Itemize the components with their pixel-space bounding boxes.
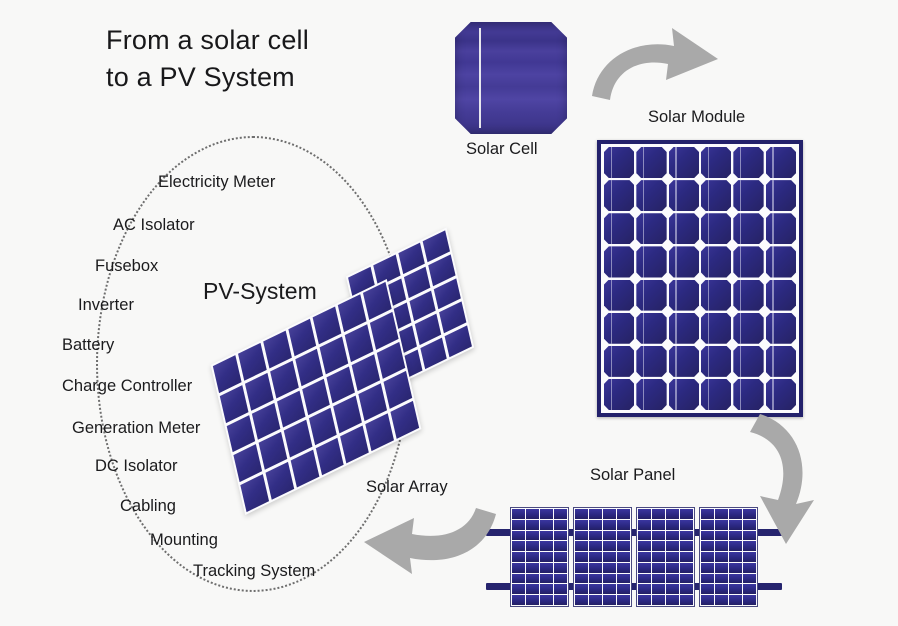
solar-panel-cell bbox=[603, 595, 616, 605]
solar-panel-cell bbox=[512, 584, 525, 594]
solar-panel-cell-grid bbox=[512, 509, 567, 605]
solar-module-cell bbox=[636, 280, 666, 311]
solar-panel-cell bbox=[638, 520, 651, 530]
solar-panel-cell bbox=[526, 541, 539, 551]
solar-array-cell bbox=[290, 450, 319, 488]
solar-panel-cell bbox=[701, 541, 714, 551]
solar-panel-module bbox=[636, 507, 695, 607]
solar-panel-cell bbox=[575, 520, 588, 530]
solar-module-cell bbox=[636, 346, 666, 377]
solar-panel-cell bbox=[575, 595, 588, 605]
solar-panel-cell bbox=[617, 541, 630, 551]
diagram-canvas: From a solar cell to a PV System PV-Syst… bbox=[0, 0, 898, 626]
solar-module-cell bbox=[766, 246, 796, 277]
solar-panel-cell bbox=[575, 584, 588, 594]
solar-panel-cell bbox=[743, 574, 756, 584]
solar-panel-cell bbox=[638, 531, 651, 541]
solar-panel-cell bbox=[652, 541, 665, 551]
solar-panel-cell-grid bbox=[638, 509, 693, 605]
solar-panel-cell bbox=[652, 595, 665, 605]
solar-module-cell bbox=[733, 213, 763, 244]
solar-panel-cell bbox=[617, 563, 630, 573]
solar-panel-cell bbox=[617, 552, 630, 562]
solar-module-cell bbox=[701, 213, 731, 244]
solar-panel-cell bbox=[603, 531, 616, 541]
solar-panel-cell bbox=[701, 509, 714, 519]
solar-panel-cell bbox=[666, 574, 679, 584]
solar-module-cell bbox=[669, 147, 699, 178]
component-label-fusebox: Fusebox bbox=[95, 257, 158, 276]
solar-module-cell bbox=[669, 379, 699, 410]
stage-label-solar-cell: Solar Cell bbox=[466, 140, 538, 159]
solar-panel-cell bbox=[526, 595, 539, 605]
component-label-tracking-system: Tracking System bbox=[193, 562, 315, 581]
solar-module-cell bbox=[636, 180, 666, 211]
page-title: From a solar cell to a PV System bbox=[106, 22, 309, 96]
solar-panel-cell bbox=[526, 563, 539, 573]
solar-panel-cell bbox=[638, 552, 651, 562]
solar-panel-cell bbox=[715, 509, 728, 519]
solar-panel-cell bbox=[540, 552, 553, 562]
solar-module-cell bbox=[733, 379, 763, 410]
solar-cell-graphic bbox=[455, 22, 567, 134]
solar-panel-cell bbox=[743, 595, 756, 605]
solar-panel-cell bbox=[554, 509, 567, 519]
solar-panel-cell bbox=[729, 574, 742, 584]
solar-module-cell bbox=[733, 346, 763, 377]
solar-panel-cell bbox=[680, 574, 693, 584]
solar-panel-cell bbox=[652, 563, 665, 573]
solar-module-cell bbox=[669, 346, 699, 377]
solar-module-cell bbox=[604, 280, 634, 311]
solar-panel-cell bbox=[680, 531, 693, 541]
solar-panel-cell bbox=[575, 541, 588, 551]
solar-panel-cell bbox=[575, 509, 588, 519]
solar-panel-cell bbox=[715, 584, 728, 594]
solar-panel-cell bbox=[589, 574, 602, 584]
solar-panel-cell bbox=[617, 584, 630, 594]
solar-panel-cell bbox=[666, 584, 679, 594]
solar-panel-cell bbox=[680, 584, 693, 594]
solar-panel-cell bbox=[554, 563, 567, 573]
solar-array-cell bbox=[366, 413, 395, 451]
solar-panel-cell bbox=[603, 520, 616, 530]
solar-panel-cell bbox=[554, 541, 567, 551]
solar-panel-module bbox=[510, 507, 569, 607]
solar-panel-cell bbox=[652, 520, 665, 530]
solar-module-cell bbox=[766, 147, 796, 178]
solar-panel-cell bbox=[652, 584, 665, 594]
solar-panel-cell bbox=[512, 574, 525, 584]
solar-panel-cell bbox=[589, 563, 602, 573]
solar-panel-cell bbox=[701, 584, 714, 594]
solar-panel-cell bbox=[589, 595, 602, 605]
solar-module-cell bbox=[701, 147, 731, 178]
solar-module-cell bbox=[669, 280, 699, 311]
solar-module-cell bbox=[701, 246, 731, 277]
solar-module-cell bbox=[733, 280, 763, 311]
stage-label-solar-array: Solar Array bbox=[366, 478, 448, 497]
solar-panel-cell bbox=[666, 552, 679, 562]
solar-panel-cell bbox=[680, 509, 693, 519]
solar-panel-cell bbox=[638, 595, 651, 605]
solar-panel-cell bbox=[680, 541, 693, 551]
solar-panel-cell bbox=[554, 574, 567, 584]
solar-panel-cell bbox=[652, 531, 665, 541]
solar-module-cell bbox=[604, 147, 634, 178]
solar-panel-cell bbox=[575, 563, 588, 573]
solar-panel-cell bbox=[680, 520, 693, 530]
solar-panel-cell bbox=[540, 509, 553, 519]
solar-module-cell bbox=[701, 346, 731, 377]
solar-module-cell bbox=[766, 180, 796, 211]
solar-panel-cell bbox=[589, 552, 602, 562]
solar-module-cell bbox=[669, 180, 699, 211]
solar-panel-cell bbox=[617, 574, 630, 584]
solar-panel-cell bbox=[512, 509, 525, 519]
solar-panel-module bbox=[573, 507, 632, 607]
solar-panel-cell bbox=[540, 595, 553, 605]
component-label-dc-isolator: DC Isolator bbox=[95, 457, 178, 476]
solar-panel-cell bbox=[512, 520, 525, 530]
solar-module-cell bbox=[701, 280, 731, 311]
solar-module-cell bbox=[701, 180, 731, 211]
solar-panel-cell bbox=[715, 531, 728, 541]
solar-module-cell bbox=[733, 147, 763, 178]
solar-panel-cell bbox=[680, 563, 693, 573]
solar-panel-cell bbox=[743, 584, 756, 594]
solar-module-cell bbox=[701, 379, 731, 410]
arrow-module-to-panel-icon bbox=[736, 408, 828, 548]
solar-panel-cell bbox=[540, 520, 553, 530]
solar-panel-cell bbox=[715, 595, 728, 605]
solar-module-cell-grid bbox=[601, 144, 799, 413]
solar-panel-module-row bbox=[510, 507, 758, 607]
solar-panel-cell bbox=[575, 574, 588, 584]
solar-panel-cell bbox=[526, 584, 539, 594]
solar-module-cell bbox=[636, 147, 666, 178]
stage-label-solar-panel: Solar Panel bbox=[590, 466, 675, 485]
solar-panel-cell bbox=[666, 541, 679, 551]
solar-panel-cell bbox=[540, 574, 553, 584]
solar-panel-cell bbox=[603, 574, 616, 584]
solar-panel-cell bbox=[540, 563, 553, 573]
solar-panel-cell bbox=[701, 552, 714, 562]
solar-module-cell bbox=[636, 379, 666, 410]
solar-array-cell bbox=[265, 462, 294, 500]
solar-panel-cell bbox=[680, 595, 693, 605]
solar-panel-cell bbox=[666, 509, 679, 519]
solar-module-cell bbox=[604, 180, 634, 211]
solar-module-graphic bbox=[597, 140, 803, 417]
solar-panel-cell bbox=[701, 531, 714, 541]
solar-panel-cell bbox=[715, 574, 728, 584]
solar-module-cell bbox=[604, 213, 634, 244]
solar-panel-cell bbox=[589, 509, 602, 519]
solar-panel-cell bbox=[554, 584, 567, 594]
solar-module-cell bbox=[636, 246, 666, 277]
solar-module-cell bbox=[636, 213, 666, 244]
solar-panel-cell bbox=[715, 552, 728, 562]
solar-panel-cell bbox=[554, 595, 567, 605]
component-label-generation-meter: Generation Meter bbox=[72, 419, 200, 438]
solar-panel-cell bbox=[638, 541, 651, 551]
solar-module-cell bbox=[766, 313, 796, 344]
solar-panel-cell bbox=[743, 563, 756, 573]
solar-panel-cell bbox=[729, 552, 742, 562]
solar-panel-cell bbox=[617, 531, 630, 541]
solar-panel-cell bbox=[701, 574, 714, 584]
solar-panel-cell bbox=[729, 595, 742, 605]
solar-panel-cell bbox=[729, 563, 742, 573]
solar-cell-busbar bbox=[479, 28, 481, 128]
solar-panel-cell bbox=[512, 563, 525, 573]
solar-module-cell bbox=[669, 313, 699, 344]
solar-panel-cell bbox=[575, 552, 588, 562]
solar-panel-cell bbox=[652, 552, 665, 562]
solar-panel-cell bbox=[603, 552, 616, 562]
solar-panel-cell bbox=[589, 531, 602, 541]
solar-panel-cell-grid bbox=[575, 509, 630, 605]
solar-module-cell bbox=[766, 379, 796, 410]
solar-panel-cell bbox=[512, 541, 525, 551]
solar-panel-cell bbox=[603, 584, 616, 594]
solar-panel-cell bbox=[617, 595, 630, 605]
solar-panel-cell bbox=[603, 563, 616, 573]
solar-panel-cell bbox=[540, 541, 553, 551]
solar-panel-cell bbox=[617, 520, 630, 530]
arrow-cell-to-module-icon bbox=[588, 22, 726, 114]
component-label-electricity-meter: Electricity Meter bbox=[158, 173, 275, 192]
solar-panel-cell bbox=[512, 531, 525, 541]
solar-panel-cell bbox=[701, 563, 714, 573]
solar-module-cell bbox=[669, 246, 699, 277]
solar-panel-cell bbox=[638, 584, 651, 594]
solar-panel-cell bbox=[715, 541, 728, 551]
solar-panel-cell bbox=[603, 541, 616, 551]
solar-panel-cell bbox=[638, 509, 651, 519]
solar-module-cell bbox=[669, 213, 699, 244]
solar-panel-cell bbox=[652, 574, 665, 584]
solar-panel-cell bbox=[540, 531, 553, 541]
solar-panel-cell bbox=[526, 574, 539, 584]
solar-cell-wafer bbox=[455, 22, 567, 134]
solar-panel-cell bbox=[540, 584, 553, 594]
solar-panel-cell bbox=[743, 552, 756, 562]
solar-panel-cell bbox=[715, 563, 728, 573]
solar-array-cell bbox=[391, 401, 420, 439]
solar-panel-cell bbox=[575, 531, 588, 541]
solar-module-cell bbox=[604, 346, 634, 377]
component-label-charge-controller: Charge Controller bbox=[62, 377, 192, 396]
solar-panel-cell bbox=[680, 552, 693, 562]
solar-array-cell bbox=[315, 438, 344, 476]
component-label-battery: Battery bbox=[62, 336, 114, 355]
solar-panel-cell bbox=[729, 584, 742, 594]
solar-panel-graphic bbox=[500, 505, 768, 609]
solar-panel-cell bbox=[715, 520, 728, 530]
solar-module-cell bbox=[604, 246, 634, 277]
arrow-panel-to-array-icon bbox=[350, 500, 500, 578]
solar-module-cell bbox=[636, 313, 666, 344]
solar-module-cell bbox=[733, 246, 763, 277]
solar-panel-cell bbox=[701, 595, 714, 605]
solar-module-cell bbox=[701, 313, 731, 344]
solar-panel-cell bbox=[638, 563, 651, 573]
solar-panel-cell bbox=[512, 595, 525, 605]
solar-panel-cell bbox=[617, 509, 630, 519]
solar-panel-cell bbox=[554, 520, 567, 530]
solar-panel-cell bbox=[526, 531, 539, 541]
solar-panel-cell bbox=[638, 574, 651, 584]
solar-module-cell bbox=[733, 180, 763, 211]
solar-panel-cell bbox=[589, 520, 602, 530]
solar-module-cell bbox=[604, 379, 634, 410]
component-label-ac-isolator: AC Isolator bbox=[113, 216, 195, 235]
solar-module-cell bbox=[766, 280, 796, 311]
solar-panel-cell bbox=[526, 552, 539, 562]
solar-module-cell bbox=[733, 313, 763, 344]
solar-panel-cell bbox=[652, 509, 665, 519]
component-label-cabling: Cabling bbox=[120, 497, 176, 516]
component-label-mounting: Mounting bbox=[150, 531, 218, 550]
solar-panel-cell bbox=[666, 595, 679, 605]
solar-panel-cell bbox=[526, 520, 539, 530]
component-label-inverter: Inverter bbox=[78, 296, 134, 315]
solar-array-graphic bbox=[212, 256, 462, 506]
solar-panel-cell bbox=[589, 541, 602, 551]
solar-panel-cell bbox=[603, 509, 616, 519]
solar-panel-cell bbox=[526, 509, 539, 519]
solar-panel-cell bbox=[554, 531, 567, 541]
solar-array-cell bbox=[341, 426, 370, 464]
solar-panel-cell bbox=[512, 552, 525, 562]
solar-panel-cell bbox=[589, 584, 602, 594]
solar-module-cell bbox=[604, 313, 634, 344]
solar-panel-cell bbox=[666, 531, 679, 541]
solar-panel-cell bbox=[666, 520, 679, 530]
solar-module-cell bbox=[766, 346, 796, 377]
solar-panel-cell bbox=[554, 552, 567, 562]
solar-panel-cell bbox=[701, 520, 714, 530]
solar-module-cell bbox=[766, 213, 796, 244]
solar-panel-cell bbox=[666, 563, 679, 573]
